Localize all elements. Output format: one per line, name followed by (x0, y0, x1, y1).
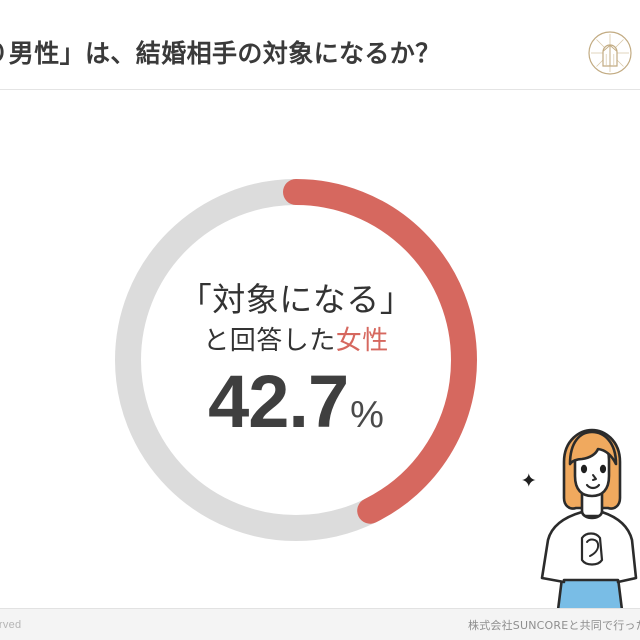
brand-lockup[interactable]: Pr (587, 30, 640, 76)
page-header: ゃり男性」は、結婚相手の対象になるか？ Pr (0, 0, 640, 90)
donut-chart (114, 178, 478, 542)
shirt-graphic-icon (582, 534, 602, 565)
eye-right-shape (600, 465, 606, 473)
footer-source-note: 株式会社SUNCOREと共同で行ったイン (468, 617, 640, 633)
page-title: ゃり男性」は、結婚相手の対象になるか？ (0, 34, 441, 70)
woman-with-phone-illustration (508, 420, 640, 608)
eye-left-shape (581, 465, 587, 473)
illustration-svg (508, 420, 640, 608)
sparkle-icon (522, 473, 536, 487)
slide-page: ゃり男性」は、結婚相手の対象になるか？ Pr (0, 0, 640, 640)
footer-copyright: Reserved (0, 619, 21, 631)
skirt-shape (558, 578, 622, 608)
chart-area: 「対象になる」 と回答した女性 42.7 % (0, 90, 640, 608)
page-footer: Reserved 株式会社SUNCOREと共同で行ったイン (0, 608, 640, 640)
arch-window-emblem-icon (587, 30, 633, 76)
